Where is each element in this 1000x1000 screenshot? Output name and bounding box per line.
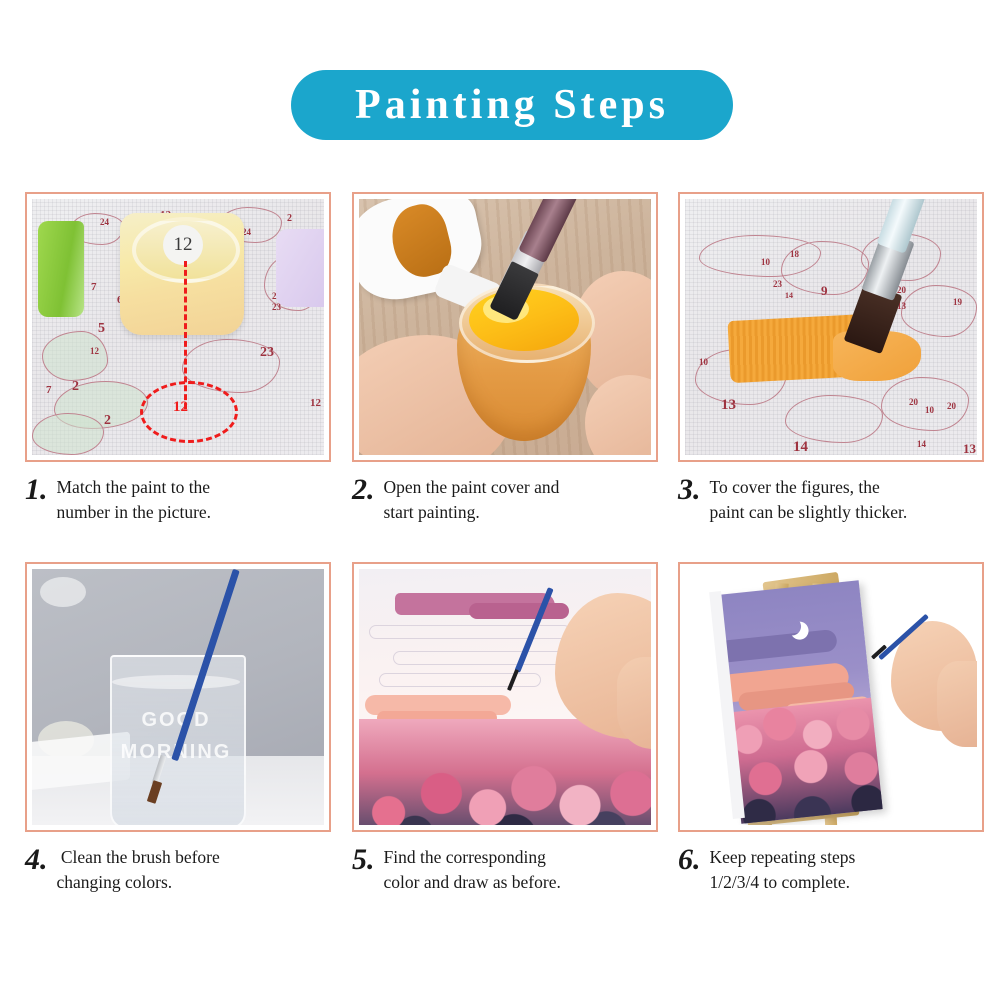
step-card-3: 10 18 23 14 9 20 13 19 10 20 13 14 20 10… bbox=[678, 192, 984, 525]
canvas-number: 13 bbox=[963, 441, 976, 455]
step-caption-2: 2. Open the paint cover and start painti… bbox=[352, 475, 658, 525]
pot-label-circle: 12 bbox=[163, 225, 203, 265]
photo-frame-6 bbox=[678, 562, 984, 832]
canvas-number: 14 bbox=[793, 439, 808, 455]
step-card-6: 6. Keep repeating steps 1/2/3/4 to compl… bbox=[678, 562, 984, 895]
canvas-number: 12 bbox=[90, 346, 99, 356]
canvas-number: 10 bbox=[699, 357, 708, 367]
water-surface bbox=[112, 675, 240, 689]
canvas-number: 24 bbox=[100, 217, 109, 227]
canvas-number: 2 bbox=[287, 213, 292, 224]
painting-in-progress-photo bbox=[359, 569, 651, 825]
canvas-outline bbox=[42, 331, 108, 381]
forearm bbox=[937, 661, 977, 747]
canvas-number: 20 bbox=[909, 397, 918, 407]
step-card-4: GOOD MORNING 4. Clean the brush before c… bbox=[25, 562, 331, 895]
step-number-1: 1. bbox=[25, 475, 57, 505]
canvas-number: 12 bbox=[310, 397, 321, 409]
paint-pot-matching-number-photo: 12 24 2 24 7 6 5 12 2 7 2 23 24 23 12 12… bbox=[32, 199, 324, 455]
step-text-3: To cover the figures, the paint can be s… bbox=[710, 475, 908, 525]
canvas-number: 14 bbox=[785, 291, 793, 300]
step-caption-6: 6. Keep repeating steps 1/2/3/4 to compl… bbox=[678, 845, 984, 895]
match-target-label: 12 bbox=[173, 399, 188, 416]
step-card-5: 5. Find the corresponding color and draw… bbox=[352, 562, 658, 895]
photo-frame-1: 12 24 2 24 7 6 5 12 2 7 2 23 24 23 12 12… bbox=[25, 192, 331, 462]
painted-blossom-mass bbox=[722, 696, 883, 824]
canvas-number: 10 bbox=[761, 257, 770, 267]
open-paint-pot-photo bbox=[359, 199, 651, 455]
background-object bbox=[40, 577, 86, 607]
step-caption-4: 4. Clean the brush before changing color… bbox=[25, 845, 331, 895]
photo-frame-4: GOOD MORNING bbox=[25, 562, 331, 832]
step-number-6: 6. bbox=[678, 845, 710, 875]
step-number-3: 3. bbox=[678, 475, 710, 505]
step-caption-1: 1. Match the paint to the number in the … bbox=[25, 475, 331, 525]
brush-in-water-glass-photo: GOOD MORNING bbox=[32, 569, 324, 825]
canvas-number: 7 bbox=[91, 281, 97, 293]
brush-stroke-on-canvas-photo: 10 18 23 14 9 20 13 19 10 20 13 14 20 10… bbox=[685, 199, 977, 455]
canvas-number: 2 bbox=[72, 379, 79, 395]
canvas-outline bbox=[901, 285, 977, 337]
canvas-number: 23 bbox=[773, 279, 782, 289]
match-target-ellipse bbox=[140, 381, 238, 443]
canvas-number: 7 bbox=[46, 384, 52, 396]
canvas-number: 20 bbox=[947, 401, 956, 411]
canvas-number: 10 bbox=[925, 405, 934, 415]
canvas-number: 19 bbox=[953, 297, 962, 307]
painted-cloud bbox=[469, 603, 569, 619]
unpainted-outline bbox=[369, 625, 571, 639]
photo-frame-5 bbox=[352, 562, 658, 832]
step-caption-5: 5. Find the corresponding color and draw… bbox=[352, 845, 658, 895]
step-number-5: 5. bbox=[352, 845, 384, 875]
step-text-6: Keep repeating steps 1/2/3/4 to complete… bbox=[710, 845, 856, 895]
finished-painting-on-easel-photo bbox=[685, 569, 977, 825]
step-card-1: 12 24 2 24 7 6 5 12 2 7 2 23 24 23 12 12… bbox=[25, 192, 331, 525]
step-text-2: Open the paint cover and start painting. bbox=[384, 475, 560, 525]
canvas-number: 18 bbox=[790, 249, 799, 259]
canvas-outline bbox=[32, 413, 104, 455]
green-paint-pot bbox=[38, 221, 84, 317]
canvas-outline bbox=[785, 395, 883, 443]
photo-frame-2 bbox=[352, 192, 658, 462]
step-caption-3: 3. To cover the figures, the paint can b… bbox=[678, 475, 984, 525]
canvas-number: 14 bbox=[917, 439, 926, 449]
canvas-number: 2 bbox=[104, 413, 111, 429]
step-text-4: Clean the brush before changing colors. bbox=[57, 845, 220, 895]
photo-frame-3: 10 18 23 14 9 20 13 19 10 20 13 14 20 10… bbox=[678, 192, 984, 462]
painted-sky-cloud bbox=[717, 629, 837, 663]
page-title-banner: Painting Steps bbox=[291, 70, 733, 140]
finished-canvas bbox=[717, 580, 882, 824]
step-text-1: Match the paint to the number in the pic… bbox=[57, 475, 212, 525]
canvas-number: 5 bbox=[98, 321, 105, 337]
glass-text-line-1: GOOD bbox=[88, 709, 264, 732]
step-text-5: Find the corresponding color and draw as… bbox=[384, 845, 561, 895]
canvas-number: 23 bbox=[260, 345, 274, 361]
step-number-2: 2. bbox=[352, 475, 384, 505]
pot-label: 12 bbox=[174, 234, 193, 256]
page-title: Painting Steps bbox=[355, 84, 669, 126]
canvas-number: 13 bbox=[721, 397, 736, 414]
canvas-number: 9 bbox=[821, 283, 828, 299]
step-number-4: 4. bbox=[25, 845, 57, 875]
step-card-2: 2. Open the paint cover and start painti… bbox=[352, 192, 658, 525]
purple-paint-pot bbox=[276, 229, 324, 307]
